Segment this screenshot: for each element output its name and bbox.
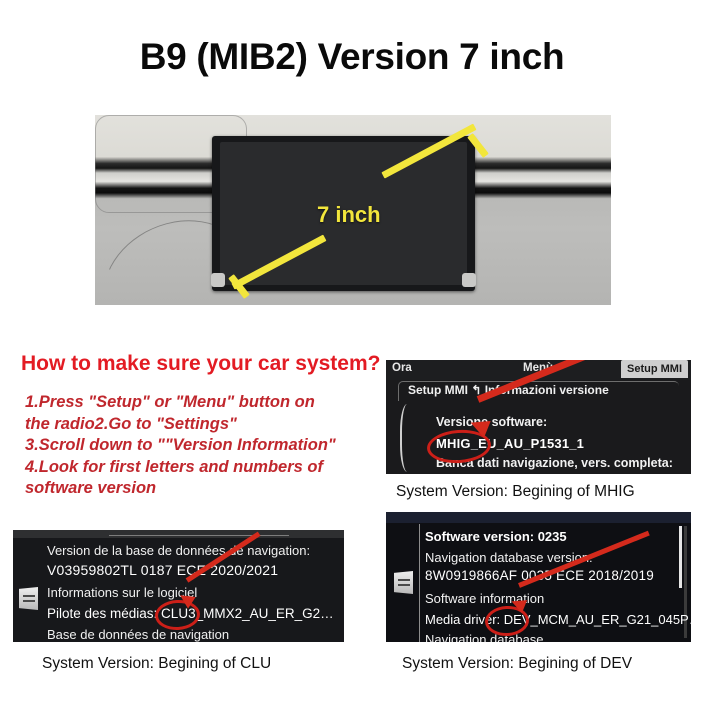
howto-step-text: Scroll down to ""Version Information" <box>39 436 336 454</box>
software-version-label: Versione software: <box>436 415 547 429</box>
howto-step: 3.Scroll down to ""Version Information" <box>25 435 365 457</box>
screen-mount-tab-left <box>211 273 225 287</box>
howto-step-number: 4. <box>25 458 39 476</box>
caption-mhig: System Version: Begining of MHIG <box>396 483 635 501</box>
mmi-top-strip <box>386 512 691 523</box>
howto-steps-list: 1.Press "Setup" or "Menu" button on the … <box>25 392 365 500</box>
list-menu-icon <box>19 587 38 610</box>
software-information-item[interactable]: Software information <box>425 591 544 606</box>
howto-step: the radio2.Go to "Settings" <box>25 414 365 436</box>
howto-step-number: 1. <box>25 393 39 411</box>
list-menu-icon <box>394 571 413 594</box>
nav-database-item[interactable]: Navigation database <box>425 632 544 642</box>
mmi-screenshot-clu: Version de la base de données de navigat… <box>13 530 344 642</box>
caption-clu: System Version: Begining of CLU <box>42 655 271 673</box>
tab-setup-mmi[interactable]: Setup MMI <box>621 360 688 378</box>
howto-step-text: software version <box>25 479 156 497</box>
howto-step-number: 3. <box>25 436 39 454</box>
mmi-top-strip <box>13 530 344 538</box>
howto-step: 1.Press "Setup" or "Menu" button on <box>25 392 365 414</box>
mmi-top-divider <box>109 535 289 536</box>
nav-database-version-label: Version de la base de données de navigat… <box>47 543 310 558</box>
screen-mount-tab-right <box>462 273 476 287</box>
tab-clock[interactable]: Ora <box>392 362 412 374</box>
mmi-screenshot-mhig: Ora Menù Setup MMI Setup MMI ↰ Informazi… <box>386 360 691 474</box>
software-information-item[interactable]: Informations sur le logiciel <box>47 585 197 600</box>
car-dashboard-photo: 7 inch <box>95 115 611 305</box>
screen-size-label: 7 inch <box>317 202 381 228</box>
page-title: B9 (MIB2) Version 7 inch <box>0 36 704 78</box>
media-driver-item[interactable]: Media driver: DEV_MCM_AU_ER_G21_045P… <box>425 612 691 627</box>
caption-dev: System Version: Begining of DEV <box>402 655 632 673</box>
mmi-screenshot-dev: Software version: 0235 Navigation databa… <box>386 512 691 642</box>
howto-step: 4.Look for first letters and numbers of <box>25 457 365 479</box>
scrollbar-thumb[interactable] <box>679 526 682 588</box>
mmi-sidebar-divider <box>419 524 420 642</box>
nav-database-item[interactable]: Base de données de navigation <box>47 627 229 642</box>
mmi-sidebar-curve <box>400 404 418 472</box>
nav-database-version-value: V03959802TL 0187 ECE 2020/2021 <box>47 562 278 578</box>
software-version-line: Software version: 0235 <box>425 529 567 544</box>
howto-step-text: Look for first letters and numbers of <box>39 458 323 476</box>
howto-step: software version <box>25 478 365 500</box>
howto-heading: How to make sure your car system? <box>21 352 380 376</box>
howto-step-text: Press "Setup" or "Menu" button on <box>39 393 315 411</box>
howto-step-text: the radio2.Go to "Settings" <box>25 415 237 433</box>
